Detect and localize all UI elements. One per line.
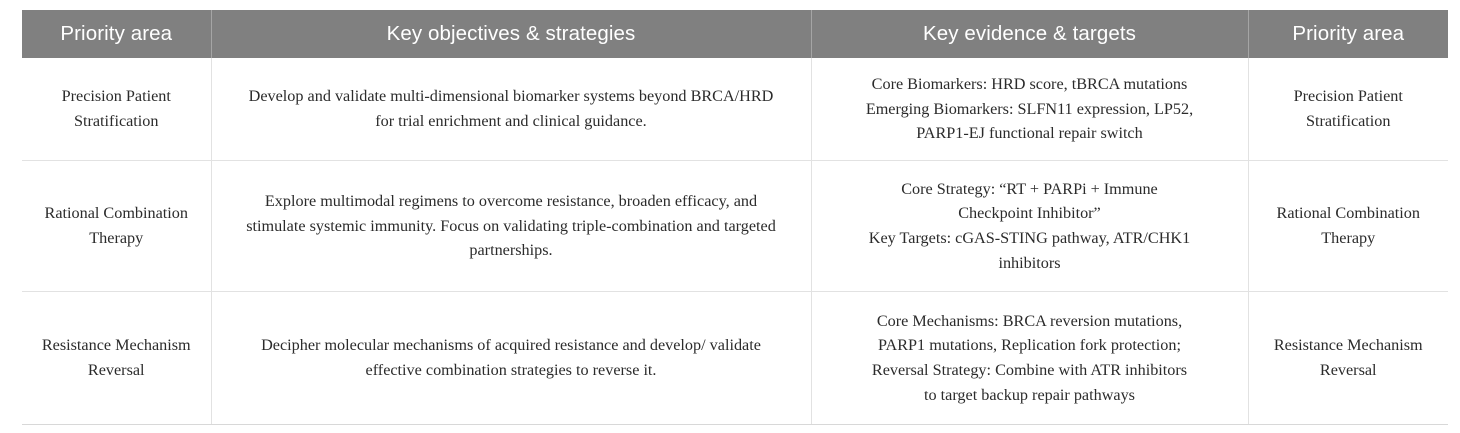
evidence-line: Key Targets: cGAS-STING pathway, ATR/CHK… [830,226,1230,251]
cell-priority-area-right: Precision Patient Stratification [1248,58,1448,161]
evidence-line: Reversal Strategy: Combine with ATR inhi… [830,358,1230,383]
cell-key-evidence: Core Strategy: “RT + PARPi + Immune Chec… [811,161,1248,292]
cell-key-objectives: Develop and validate multi-dimensional b… [211,58,811,161]
cell-key-objectives: Decipher molecular mechanisms of acquire… [211,292,811,425]
evidence-line: Emerging Biomarkers: SLFN11 expression, … [830,97,1230,122]
cell-priority-area-left: Resistance Mechanism Reversal [22,292,211,425]
research-priorities-table: Priority area Key objectives & strategie… [22,10,1448,425]
evidence-line: to target backup repair pathways [830,383,1230,408]
column-header-priority-area-left: Priority area [22,10,211,58]
table-header-row: Priority area Key objectives & strategie… [22,10,1448,58]
evidence-line: Core Mechanisms: BRCA reversion mutation… [830,309,1230,334]
cell-priority-area-right: Rational Combination Therapy [1248,161,1448,292]
evidence-line: inhibitors [830,251,1230,276]
cell-priority-area-left: Rational Combination Therapy [22,161,211,292]
column-header-key-objectives-strategies: Key objectives & strategies [211,10,811,58]
cell-key-evidence: Core Mechanisms: BRCA reversion mutation… [811,292,1248,425]
evidence-line: Core Biomarkers: HRD score, tBRCA mutati… [830,72,1230,97]
table-body: Precision Patient Stratification Develop… [22,58,1448,425]
evidence-line: PARP1-EJ functional repair switch [830,121,1230,146]
table-header: Priority area Key objectives & strategie… [22,10,1448,58]
column-header-key-evidence-targets: Key evidence & targets [811,10,1248,58]
table-row: Rational Combination Therapy Explore mul… [22,161,1448,292]
table-row: Resistance Mechanism Reversal Decipher m… [22,292,1448,425]
table-row: Precision Patient Stratification Develop… [22,58,1448,161]
table-container: Priority area Key objectives & strategie… [0,0,1460,433]
evidence-line: PARP1 mutations, Replication fork protec… [830,333,1230,358]
cell-key-objectives: Explore multimodal regimens to overcome … [211,161,811,292]
cell-priority-area-left: Precision Patient Stratification [22,58,211,161]
evidence-line: Core Strategy: “RT + PARPi + Immune [830,177,1230,202]
cell-key-evidence: Core Biomarkers: HRD score, tBRCA mutati… [811,58,1248,161]
column-header-priority-area-right: Priority area [1248,10,1448,58]
cell-priority-area-right: Resistance Mechanism Reversal [1248,292,1448,425]
evidence-line: Checkpoint Inhibitor” [830,201,1230,226]
